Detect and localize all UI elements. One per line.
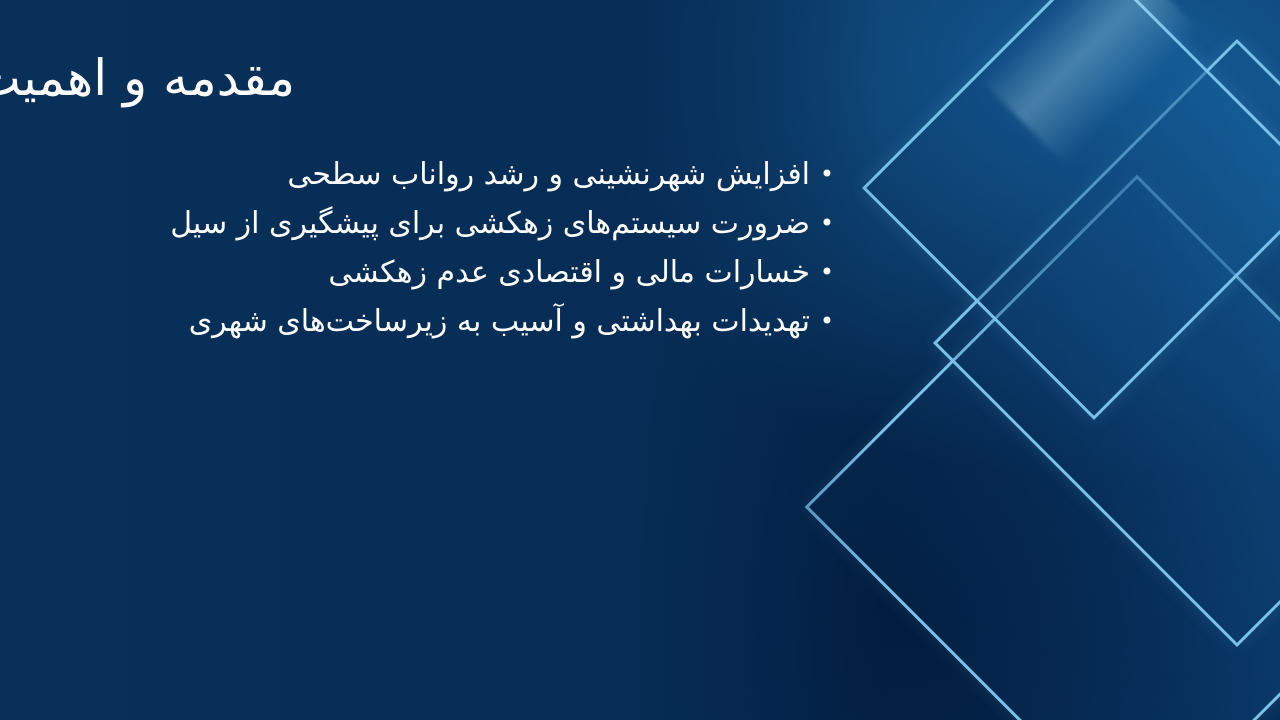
list-item-label: افزایش شهرنشینی و رشد رواناب سطحی bbox=[287, 157, 810, 192]
diamond-large-shape bbox=[862, 0, 1280, 420]
bullet-marker-icon: • bbox=[816, 297, 838, 346]
bullet-list: • افزایش شهرنشینی و رشد رواناب سطحی • ضر… bbox=[80, 150, 840, 346]
list-item: • خسارات مالی و اقتصادی عدم زهکشی bbox=[80, 248, 840, 297]
list-item-label: تهدیدات بهداشتی و آسیب به زیرساخت‌های شه… bbox=[189, 304, 810, 339]
bullet-marker-icon: • bbox=[816, 248, 838, 297]
list-item: • تهدیدات بهداشتی و آسیب به زیرساخت‌های … bbox=[80, 297, 840, 346]
slide-title: مقدمه و اهمیت زهکشی bbox=[60, 48, 295, 109]
bullet-marker-icon: • bbox=[816, 199, 838, 248]
sheen-highlight bbox=[980, 0, 1199, 165]
list-item: • افزایش شهرنشینی و رشد رواناب سطحی bbox=[80, 150, 840, 199]
slide-content: مقدمه و اهمیت زهکشی • افزایش شهرنشینی و … bbox=[0, 0, 880, 720]
list-item-label: ضرورت سیستم‌های زهکشی برای پیشگیری از سی… bbox=[170, 206, 810, 241]
list-item-label: خسارات مالی و اقتصادی عدم زهکشی bbox=[328, 255, 810, 290]
bullet-marker-icon: • bbox=[816, 150, 838, 199]
list-item: • ضرورت سیستم‌های زهکشی برای پیشگیری از … bbox=[80, 199, 840, 248]
diamond-right-shape bbox=[933, 39, 1280, 647]
presentation-slide: مقدمه و اهمیت زهکشی • افزایش شهرنشینی و … bbox=[0, 0, 1280, 720]
